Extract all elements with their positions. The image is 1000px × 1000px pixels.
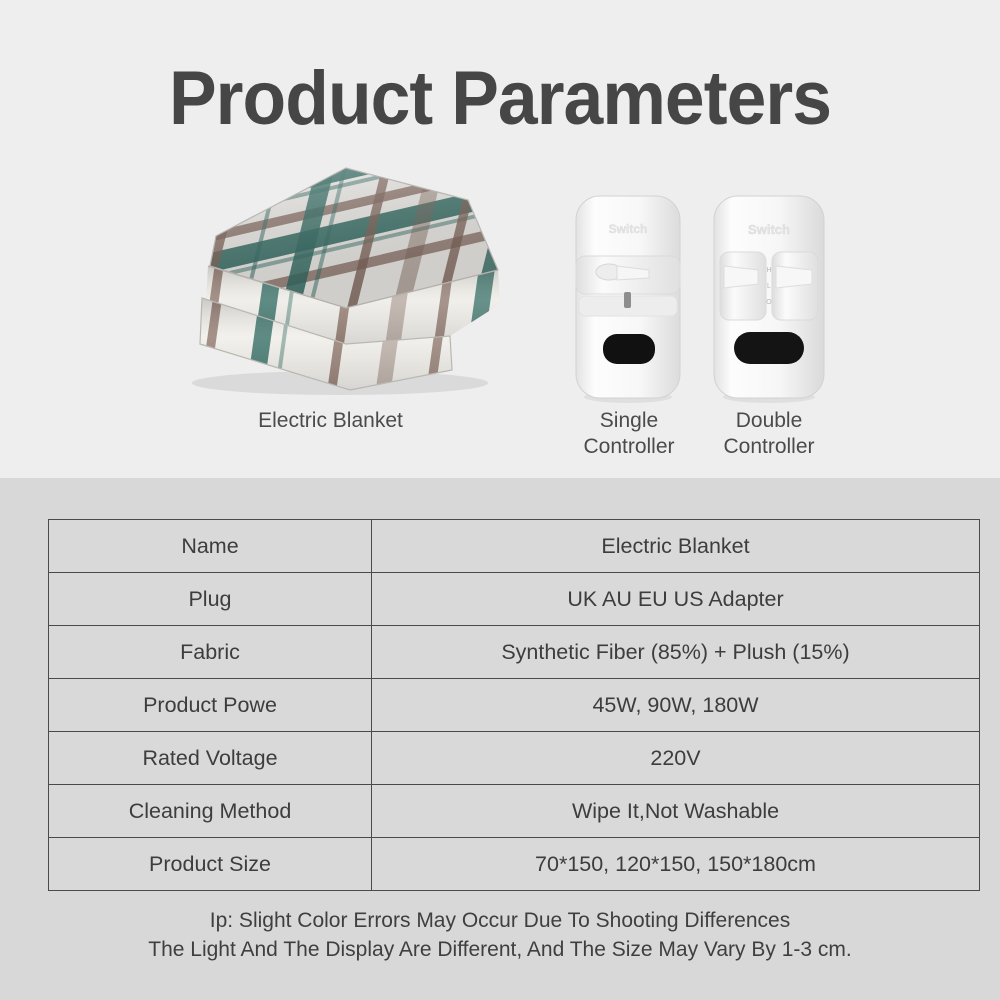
double-controller-illustration: Switch H L O <box>706 192 832 404</box>
table-row: Name Electric Blanket <box>49 520 980 573</box>
single-controller-illustration: Switch <box>567 192 689 404</box>
spec-key: Name <box>49 520 372 573</box>
spec-key: Product Size <box>49 838 372 891</box>
spec-value: Synthetic Fiber (85%) + Plush (15%) <box>372 626 980 679</box>
specs-section: Name Electric Blanket Plug UK AU EU US A… <box>0 478 1000 1000</box>
controller-brand-text: Switch <box>748 222 790 237</box>
caption-electric-blanket: Electric Blanket <box>178 408 483 434</box>
spec-value: 45W, 90W, 180W <box>372 679 980 732</box>
spec-key: Cleaning Method <box>49 785 372 838</box>
table-row: Cleaning Method Wipe It,Not Washable <box>49 785 980 838</box>
table-row: Rated Voltage 220V <box>49 732 980 785</box>
spec-table-body: Name Electric Blanket Plug UK AU EU US A… <box>49 520 980 891</box>
product-parameters-page: Product Parameters <box>0 0 1000 1000</box>
spec-value: Electric Blanket <box>372 520 980 573</box>
table-row: Product Powe 45W, 90W, 180W <box>49 679 980 732</box>
spec-value: Wipe It,Not Washable <box>372 785 980 838</box>
controller-display <box>734 332 804 364</box>
spec-value: UK AU EU US Adapter <box>372 573 980 626</box>
controller-display <box>603 334 655 364</box>
product-specs-table: Name Electric Blanket Plug UK AU EU US A… <box>48 519 980 891</box>
caption-double-controller: Double Controller <box>690 408 848 460</box>
controller-brand-text: Switch <box>609 222 648 236</box>
disclaimer-note: Ip: Slight Color Errors May Occur Due To… <box>0 906 1000 964</box>
table-row: Fabric Synthetic Fiber (85%) + Plush (15… <box>49 626 980 679</box>
spec-key: Product Powe <box>49 679 372 732</box>
svg-text:O: O <box>766 299 772 306</box>
spec-key: Fabric <box>49 626 372 679</box>
spec-value: 70*150, 120*150, 150*180cm <box>372 838 980 891</box>
double-controller-image: Switch H L O <box>706 192 832 404</box>
spec-key: Plug <box>49 573 372 626</box>
single-controller-image: Switch <box>567 192 689 404</box>
svg-text:L: L <box>767 283 771 290</box>
electric-blanket-image <box>150 158 510 403</box>
disclaimer-line-2: The Light And The Display Are Different,… <box>0 935 1000 964</box>
page-title: Product Parameters <box>30 55 970 142</box>
table-row: Plug UK AU EU US Adapter <box>49 573 980 626</box>
caption-single-controller: Single Controller <box>550 408 708 460</box>
spec-key: Rated Voltage <box>49 732 372 785</box>
hero-section: Product Parameters <box>0 0 1000 478</box>
table-row: Product Size 70*150, 120*150, 150*180cm <box>49 838 980 891</box>
spec-value: 220V <box>372 732 980 785</box>
disclaimer-line-1: Ip: Slight Color Errors May Occur Due To… <box>0 906 1000 935</box>
svg-text:H: H <box>766 267 771 274</box>
blanket-illustration <box>150 158 510 403</box>
